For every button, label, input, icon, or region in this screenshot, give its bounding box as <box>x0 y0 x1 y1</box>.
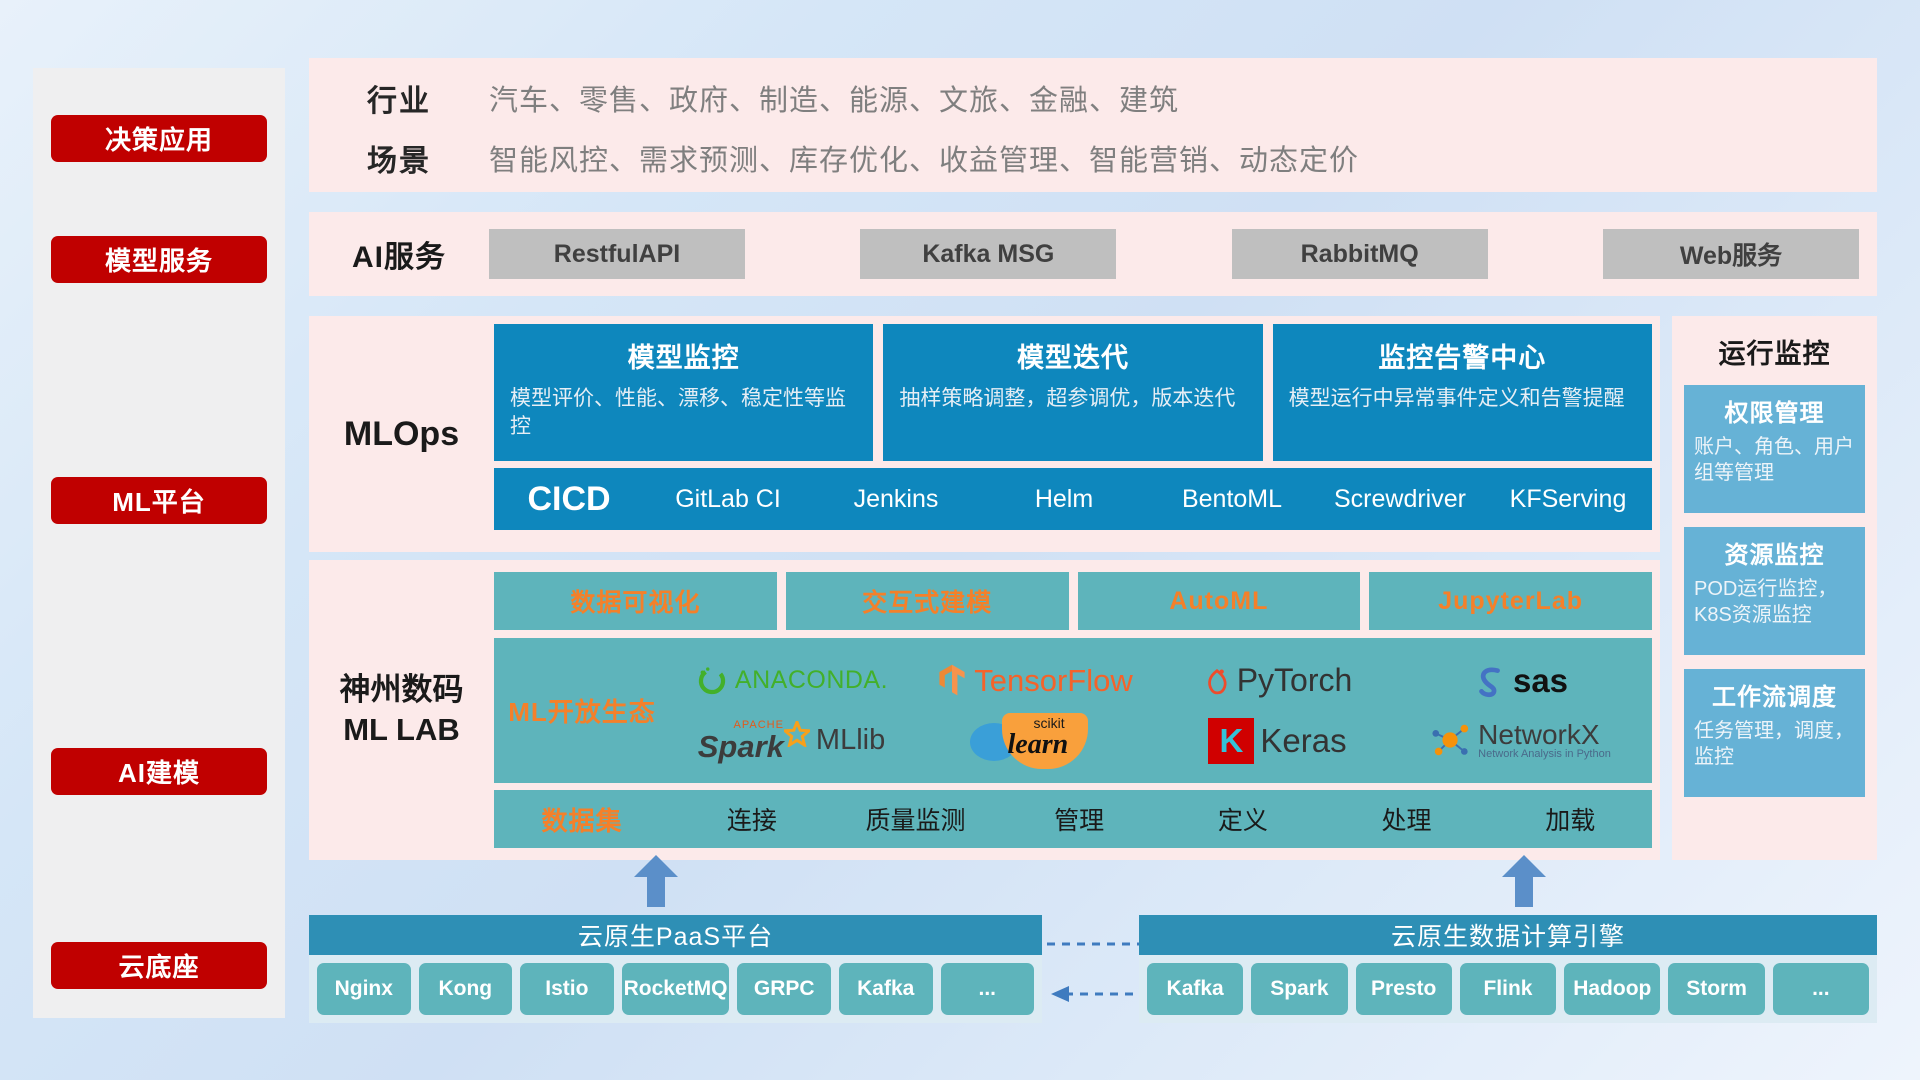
anaconda-mark-icon <box>695 664 729 698</box>
mllib-wordmark: MLlib <box>816 724 885 757</box>
cloud-native-paas-group: 云原生PaaS平台 Nginx Kong Istio RocketMQ GRPC… <box>309 915 1042 1023</box>
cicd-item-kfserving[interactable]: KFServing <box>1484 485 1652 514</box>
pytorch-wordmark: PyTorch <box>1237 662 1353 699</box>
tensorflow-mark-icon <box>936 663 968 699</box>
ml-lab-tool-list: 数据可视化 交互式建模 AutoML JupyterLab <box>494 572 1652 630</box>
paas-chip-grpc[interactable]: GRPC <box>737 963 831 1015</box>
ai-service-chip-kafka-msg[interactable]: Kafka MSG <box>860 229 1116 279</box>
mlops-card-model-iteration[interactable]: 模型迭代 抽样策略调整，超参调优，版本迭代 <box>883 324 1262 461</box>
runtime-monitoring-title: 运行监控 <box>1672 316 1877 371</box>
runtime-monitoring-panel: 运行监控 权限管理 账户、角色、用户组等管理 资源监控 POD运行监控，K8S资… <box>1672 316 1877 860</box>
ml-open-ecosystem-panel: ML开放生态 ANACONDA. <box>494 638 1652 783</box>
spark-mllib-logo: APACHE Spark MLlib <box>698 720 885 762</box>
cicd-bar: CICD GitLab CI Jenkins Helm BentoML Scre… <box>494 468 1652 530</box>
cicd-item-screwdriver[interactable]: Screwdriver <box>1316 485 1484 514</box>
ecosystem-logo-grid: ANACONDA. TensorFlow <box>670 651 1652 771</box>
engine-chip-more[interactable]: ... <box>1773 963 1869 1015</box>
industry-row: 行业 汽车、零售、政府、制造、能源、文旅、金融、建筑 <box>309 68 1877 128</box>
keras-badge-letter: K <box>1219 722 1243 760</box>
dataset-item-quality-monitoring[interactable]: 质量监测 <box>834 801 998 837</box>
rail-label: ML平台 <box>112 482 206 519</box>
keras-wordmark: Keras <box>1260 722 1346 760</box>
spark-star-icon <box>784 721 810 747</box>
rail-item-ai-modeling[interactable]: AI建模 <box>51 748 267 795</box>
networkx-tagline: Network Analysis in Python <box>1478 749 1611 761</box>
networkx-mark-icon <box>1430 721 1472 761</box>
card-desc: POD运行监控，K8S资源监控 <box>1694 576 1855 628</box>
monitoring-card-permission[interactable]: 权限管理 账户、角色、用户组等管理 <box>1684 385 1865 513</box>
ml-open-ecosystem-label: ML开放生态 <box>494 692 670 729</box>
dataset-item-definition[interactable]: 定义 <box>1161 801 1325 837</box>
mlops-card-alert-center[interactable]: 监控告警中心 模型运行中异常事件定义和告警提醒 <box>1273 324 1652 461</box>
industry-value: 汽车、零售、政府、制造、能源、文旅、金融、建筑 <box>489 77 1179 119</box>
engine-chip-storm[interactable]: Storm <box>1668 963 1764 1015</box>
keras-badge-icon: K <box>1208 718 1254 764</box>
mlops-card-list: 模型监控 模型评价、性能、漂移、稳定性等监控 模型迭代 抽样策略调整，超参调优，… <box>494 324 1652 461</box>
ml-lab-label-line2: ML LAB <box>343 710 460 750</box>
card-title: 模型迭代 <box>899 336 1246 375</box>
ml-lab-tool-data-visualization[interactable]: 数据可视化 <box>494 572 777 630</box>
left-layer-rail: 决策应用 模型服务 ML平台 AI建模 <box>33 68 285 1018</box>
architecture-diagram: 决策应用 模型服务 ML平台 AI建模 云底座 行业 汽车、零售、政府、制造、能… <box>0 0 1920 1080</box>
cicd-item-bentoml[interactable]: BentoML <box>1148 485 1316 514</box>
dataset-label: 数据集 <box>494 801 670 838</box>
engine-chip-kafka[interactable]: Kafka <box>1147 963 1243 1015</box>
engine-chip-hadoop[interactable]: Hadoop <box>1564 963 1660 1015</box>
engine-chip-list: Kafka Spark Presto Flink Hadoop Storm ..… <box>1139 955 1877 1023</box>
card-title: 工作流调度 <box>1694 677 1855 712</box>
ai-service-chip-restfulapi[interactable]: RestfulAPI <box>489 229 745 279</box>
ml-lab-label: 神州数码 ML LAB <box>309 560 494 860</box>
card-title: 模型监控 <box>510 336 857 375</box>
paas-title: 云原生PaaS平台 <box>309 915 1042 955</box>
paas-chip-kafka[interactable]: Kafka <box>839 963 933 1015</box>
industry-key: 行业 <box>309 76 489 120</box>
ml-lab-label-line1: 神州数码 <box>340 670 464 710</box>
networkx-logo: NetworkX Network Analysis in Python <box>1430 720 1611 761</box>
card-desc: 抽样策略调整，超参调优，版本迭代 <box>899 385 1246 413</box>
dataset-item-loading[interactable]: 加载 <box>1488 801 1652 837</box>
scikit-learn-logo: scikit learn <box>970 711 1100 771</box>
sas-logo: sas <box>1473 662 1568 700</box>
paas-chip-rocketmq[interactable]: RocketMQ <box>622 963 730 1015</box>
cicd-item-helm[interactable]: Helm <box>980 485 1148 514</box>
ai-service-chip-rabbitmq[interactable]: RabbitMQ <box>1232 229 1488 279</box>
ai-service-chip-web-service[interactable]: Web服务 <box>1603 229 1859 279</box>
networkx-wordmark: NetworkX <box>1478 720 1599 749</box>
tensorflow-wordmark: TensorFlow <box>974 663 1133 699</box>
paas-chip-nginx[interactable]: Nginx <box>317 963 411 1015</box>
engine-chip-presto[interactable]: Presto <box>1356 963 1452 1015</box>
dataset-item-processing[interactable]: 处理 <box>1325 801 1489 837</box>
card-desc: 模型运行中异常事件定义和告警提醒 <box>1289 385 1636 413</box>
card-desc: 模型评价、性能、漂移、稳定性等监控 <box>510 385 857 440</box>
paas-chip-more[interactable]: ... <box>941 963 1035 1015</box>
engine-title: 云原生数据计算引擎 <box>1139 915 1877 955</box>
mlops-card-model-monitoring[interactable]: 模型监控 模型评价、性能、漂移、稳定性等监控 <box>494 324 873 461</box>
rail-label: 云底座 <box>118 947 199 984</box>
cicd-item-jenkins[interactable]: Jenkins <box>812 485 980 514</box>
card-title: 权限管理 <box>1694 393 1855 428</box>
dataset-item-connect[interactable]: 连接 <box>670 801 834 837</box>
paas-chip-kong[interactable]: Kong <box>419 963 513 1015</box>
spark-wordmark: Spark <box>698 731 784 762</box>
rail-label: 模型服务 <box>105 241 213 278</box>
rail-label: 决策应用 <box>105 120 213 157</box>
card-title: 监控告警中心 <box>1289 336 1636 375</box>
industry-scenario-band: 行业 汽车、零售、政府、制造、能源、文旅、金融、建筑 场景 智能风控、需求预测、… <box>309 58 1877 192</box>
ai-service-band: AI服务 RestfulAPI Kafka MSG RabbitMQ Web服务 <box>309 212 1877 296</box>
cloud-base-zone: 云原生PaaS平台 Nginx Kong Istio RocketMQ GRPC… <box>309 895 1877 1025</box>
monitoring-card-workflow[interactable]: 工作流调度 任务管理，调度，监控 <box>1684 669 1865 797</box>
ml-lab-tool-jupyterlab[interactable]: JupyterLab <box>1369 572 1652 630</box>
ai-service-chip-list: RestfulAPI Kafka MSG RabbitMQ Web服务 <box>489 229 1877 279</box>
card-title: 资源监控 <box>1694 535 1855 570</box>
ml-lab-tool-interactive-modeling[interactable]: 交互式建模 <box>786 572 1069 630</box>
paas-chip-list: Nginx Kong Istio RocketMQ GRPC Kafka ... <box>309 955 1042 1023</box>
ai-service-label: AI服务 <box>309 232 489 276</box>
mlops-label: MLOps <box>309 316 494 552</box>
mlops-band: MLOps 模型监控 模型评价、性能、漂移、稳定性等监控 模型迭代 抽样策略调整… <box>309 316 1660 552</box>
scenario-key: 场景 <box>309 136 489 180</box>
monitoring-card-resource[interactable]: 资源监控 POD运行监控，K8S资源监控 <box>1684 527 1865 655</box>
card-desc: 任务管理，调度，监控 <box>1694 718 1855 770</box>
scenario-value: 智能风控、需求预测、库存优化、收益管理、智能营销、动态定价 <box>489 137 1359 179</box>
dataset-item-management[interactable]: 管理 <box>997 801 1161 837</box>
anaconda-logo: ANACONDA. <box>695 664 888 698</box>
rail-item-model-service[interactable]: 模型服务 <box>51 236 267 283</box>
engine-chip-flink[interactable]: Flink <box>1460 963 1556 1015</box>
rail-label: AI建模 <box>118 753 200 790</box>
tensorflow-logo: TensorFlow <box>936 663 1133 699</box>
ml-lab-tool-automl[interactable]: AutoML <box>1078 572 1361 630</box>
engine-chip-spark[interactable]: Spark <box>1251 963 1347 1015</box>
rail-item-ml-platform[interactable]: ML平台 <box>51 477 267 524</box>
cloud-native-data-engine-group: 云原生数据计算引擎 Kafka Spark Presto Flink Hadoo… <box>1139 915 1877 1023</box>
card-desc: 账户、角色、用户组等管理 <box>1694 434 1855 486</box>
pytorch-mark-icon <box>1203 664 1231 698</box>
pytorch-logo: PyTorch <box>1203 662 1353 699</box>
rail-item-cloud-base[interactable]: 云底座 <box>51 942 267 989</box>
paas-chip-istio[interactable]: Istio <box>520 963 614 1015</box>
keras-logo: K Keras <box>1208 718 1346 764</box>
cicd-title: CICD <box>494 480 644 519</box>
cicd-item-gitlab-ci[interactable]: GitLab CI <box>644 485 812 514</box>
scenario-row: 场景 智能风控、需求预测、库存优化、收益管理、智能营销、动态定价 <box>309 128 1877 188</box>
anaconda-wordmark: ANACONDA. <box>735 666 888 695</box>
sas-wordmark: sas <box>1513 662 1568 700</box>
rail-item-decision-application[interactable]: 决策应用 <box>51 115 267 162</box>
ml-lab-band: 神州数码 ML LAB 数据可视化 交互式建模 AutoML JupyterLa… <box>309 560 1660 860</box>
dataset-bar: 数据集 连接 质量监测 管理 定义 处理 加载 <box>494 790 1652 848</box>
sas-mark-icon <box>1473 664 1507 698</box>
learn-word: learn <box>1008 729 1069 761</box>
